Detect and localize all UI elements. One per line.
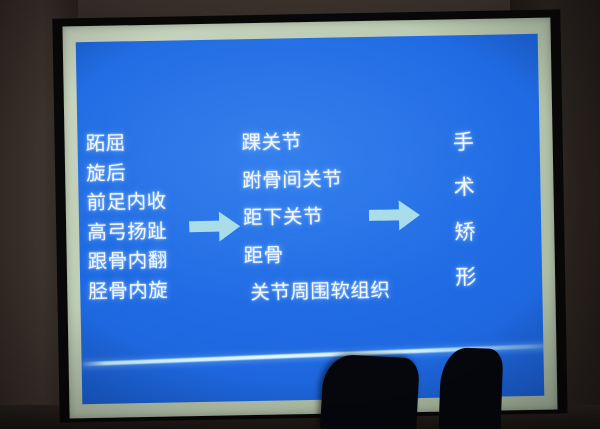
audience-silhouette-right [439, 347, 504, 429]
treatment-label-char: 矫 [445, 210, 486, 256]
treatment-label-char: 术 [444, 165, 485, 211]
anatomic-site-item: 踝关节 [241, 122, 388, 162]
arrow-right-icon [369, 198, 422, 233]
deformity-item: 跟骨内翻 [87, 246, 168, 277]
deformity-item: 前足内收 [86, 187, 167, 218]
deformity-item: 高弓扬趾 [87, 216, 168, 247]
anatomic-site-item: 关节周围软组织 [244, 272, 391, 312]
deformity-item: 胫骨内旋 [88, 275, 169, 306]
audience-silhouette-left [320, 354, 420, 429]
deformity-list: 跖屈 旋后 前足内收 高弓扬趾 跟骨内翻 胫骨内旋 [85, 128, 168, 306]
deformity-item: 跖屈 [85, 128, 166, 159]
treatment-label-char: 形 [446, 255, 487, 301]
anatomic-site-item: 跗骨间关节 [242, 159, 389, 199]
anatomic-site-item: 距下关节 [243, 197, 390, 237]
treatment-label-char: 手 [443, 120, 484, 166]
anatomic-site-item: 距骨 [243, 234, 390, 274]
photo-frame: 跖屈 旋后 前足内收 高弓扬趾 跟骨内翻 胫骨内旋 踝关节 跗骨间关节 距下关节… [0, 0, 600, 429]
arrow-right-icon [189, 209, 242, 244]
treatment-label-vertical: 手 术 矫 形 [443, 120, 486, 301]
deformity-item: 旋后 [86, 157, 167, 188]
